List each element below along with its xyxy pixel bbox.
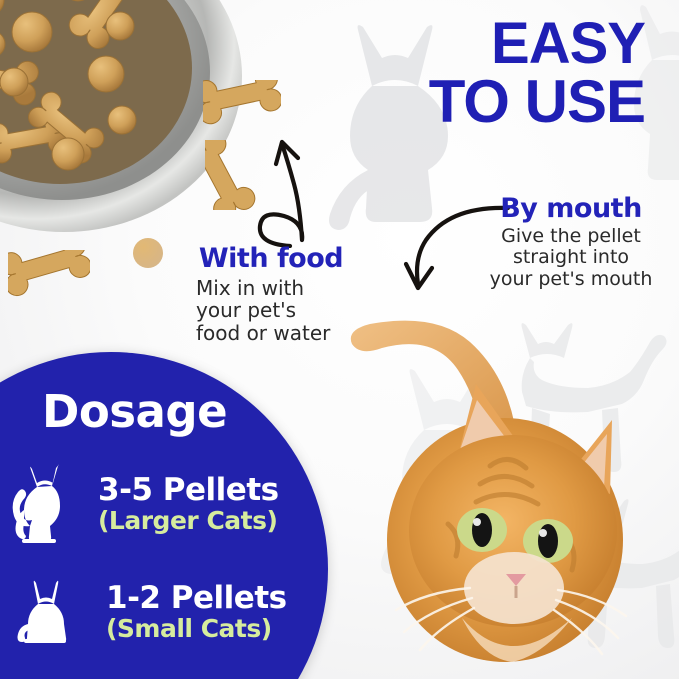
page-title: EASY TO USE bbox=[225, 16, 645, 132]
curly-arrow-to-food-bowl bbox=[240, 128, 340, 248]
kibble-round-piece bbox=[133, 238, 163, 268]
callout-by-mouth-title: By mouth bbox=[478, 193, 664, 224]
small-cat-silhouette-icon bbox=[12, 570, 90, 654]
dosage-title: Dosage bbox=[42, 385, 227, 438]
dosage-amount: 3-5 Pellets bbox=[98, 474, 279, 507]
headline-line-2: TO USE bbox=[225, 73, 645, 132]
callout-with-food-body: Mix in with your pet's food or water bbox=[186, 277, 356, 344]
callout-by-mouth: By mouth Give the pellet straight into y… bbox=[478, 193, 664, 290]
headline-line-1: EASY bbox=[225, 16, 645, 73]
callout-with-food: With food Mix in with your pet's food or… bbox=[186, 243, 356, 344]
callout-with-food-line-2: your pet's bbox=[196, 299, 356, 321]
callout-by-mouth-line-3: your pet's mouth bbox=[478, 269, 664, 290]
dosage-panel: Dosage 3-5 Pellets (Larger Cats) bbox=[0, 352, 328, 679]
callout-with-food-title: With food bbox=[186, 243, 356, 274]
callout-with-food-line-3: food or water bbox=[196, 322, 356, 344]
dosage-row-larger-cats: 3-5 Pellets (Larger Cats) bbox=[4, 462, 279, 546]
dosage-row-small-cats: 1-2 Pellets (Small Cats) bbox=[12, 570, 287, 654]
callout-by-mouth-line-2: straight into bbox=[478, 247, 664, 268]
dosage-note: (Small Cats) bbox=[106, 615, 287, 643]
kibble-bone-piece bbox=[8, 250, 90, 306]
orange-cat-photo bbox=[330, 288, 679, 679]
sitting-cat-silhouette-icon bbox=[4, 462, 82, 546]
callout-by-mouth-line-1: Give the pellet bbox=[478, 226, 664, 247]
dosage-amount: 1-2 Pellets bbox=[106, 582, 287, 615]
dosage-note: (Larger Cats) bbox=[98, 507, 279, 535]
callout-by-mouth-body: Give the pellet straight into your pet's… bbox=[478, 226, 664, 290]
poster-canvas: EASY TO USE Dosage 3-5 Pellets (Larger C… bbox=[0, 0, 679, 679]
callout-with-food-line-1: Mix in with bbox=[196, 277, 356, 299]
